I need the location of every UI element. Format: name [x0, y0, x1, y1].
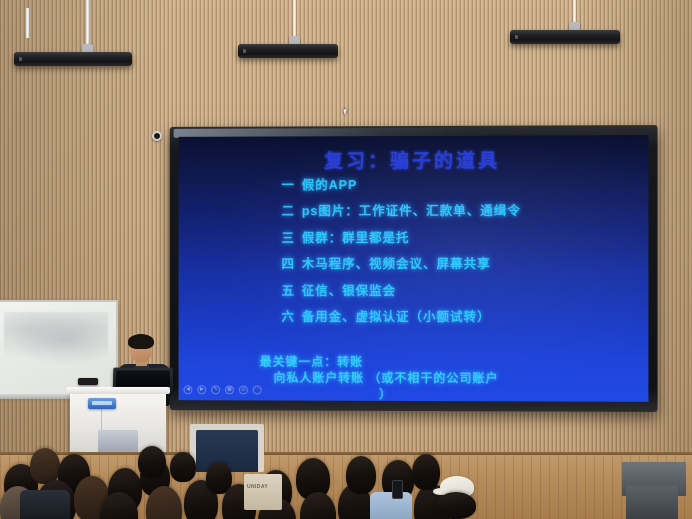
- bullet-number: 二: [282, 205, 295, 219]
- audience-member-phone: [392, 480, 403, 499]
- bullet-text: 备用金、虚拟认证（小额试转）: [302, 310, 491, 324]
- lecture-hall-scene: 复习：骗子的道具 一假的APP 二ps图片：工作证件、汇款单、通缉令 三假群：群…: [0, 0, 692, 519]
- zoom-button[interactable]: ◎: [239, 385, 248, 394]
- light-rod-3: [573, 0, 576, 24]
- audience-member-with-cap: [436, 492, 476, 519]
- audience-member: [138, 446, 166, 478]
- bullet-text: ps图片：工作证件、汇款单、通缉令: [302, 204, 521, 218]
- slide-thumbnails-button[interactable]: ▦: [225, 385, 234, 394]
- ceiling-light-bar-3: [510, 30, 620, 44]
- light-rod-2: [293, 0, 296, 38]
- slide-key-point: 最关键一点：转账 向私人账户转账 （或不相干的公司账户 ）: [260, 354, 643, 402]
- audience-member-shirt: [370, 492, 412, 519]
- tote-bag: UNIDAY: [244, 474, 282, 510]
- whiteboard-smudge: [4, 312, 108, 364]
- key-point-line-1: 最关键一点：转账: [260, 354, 643, 371]
- slide-bullet-list: 一假的APP 二ps图片：工作证件、汇款单、通缉令 三假群：群里都是托 四木马程…: [282, 177, 639, 336]
- bullet-number: 三: [282, 231, 295, 245]
- slide-bullet-6: 六备用金、虚拟认证（小额试转）: [282, 310, 639, 325]
- audience-member: [170, 452, 196, 482]
- whiteboard-eraser: [78, 378, 98, 385]
- bullet-text: 假的APP: [302, 178, 357, 192]
- ceiling-light-bar-2: [238, 44, 338, 58]
- slide-bullet-2: 二ps图片：工作证件、汇款单、通缉令: [282, 204, 639, 219]
- next-slide-button[interactable]: ▶: [197, 385, 206, 394]
- light-rod-1: [86, 0, 89, 46]
- presentation-toolbar[interactable]: ◀ ▶ ✎ ▦ ◎ ⋯: [183, 385, 261, 394]
- audience-member-shirt: [20, 490, 70, 519]
- podium-placard: [88, 398, 116, 409]
- stage-step-lower: [626, 486, 678, 519]
- pen-tool-button[interactable]: ✎: [211, 385, 220, 394]
- presenter-hair: [128, 334, 154, 349]
- key-point-line-2: 向私人账户转账 （或不相干的公司账户: [260, 370, 643, 387]
- wall-sensor-icon: [152, 131, 162, 141]
- bullet-number: 四: [282, 257, 295, 271]
- slide-title: 复习：骗子的道具: [179, 145, 649, 173]
- audience-member: [146, 486, 182, 519]
- bullet-number: 六: [282, 310, 295, 324]
- bullet-text: 征信、银保监会: [302, 283, 396, 297]
- whiteboard: [0, 300, 118, 396]
- tote-bag-label: UNIDAY: [247, 484, 268, 490]
- bullet-text: 木马程序、视频会议、屏幕共享: [302, 257, 491, 271]
- slide-bullet-1: 一假的APP: [282, 177, 639, 192]
- bullet-number: 一: [282, 178, 295, 192]
- podium-top-surface: [66, 387, 170, 394]
- previous-slide-button[interactable]: ◀: [183, 385, 192, 394]
- light-rod-4: [26, 8, 29, 38]
- slide-bullet-4: 四木马程序、视频会议、屏幕共享: [282, 257, 639, 271]
- presentation-screen: 复习：骗子的道具 一假的APP 二ps图片：工作证件、汇款单、通缉令 三假群：群…: [170, 125, 658, 412]
- audience-member: [30, 448, 60, 484]
- powerpoint-slide[interactable]: 复习：骗子的道具 一假的APP 二ps图片：工作证件、汇款单、通缉令 三假群：群…: [179, 135, 649, 402]
- ceiling-light-bar-1: [14, 52, 132, 66]
- bullet-text: 假群：群里都是托: [302, 231, 410, 245]
- slide-bullet-5: 五征信、银保监会: [282, 283, 639, 298]
- podium-monitor-screen: [116, 370, 170, 386]
- slide-bullet-3: 三假群：群里都是托: [282, 231, 639, 246]
- audience-member: [346, 456, 376, 494]
- bullet-number: 五: [282, 283, 295, 297]
- audience-member: [412, 454, 440, 490]
- key-point-line-3: ）: [260, 386, 643, 402]
- more-options-button[interactable]: ⋯: [253, 385, 262, 394]
